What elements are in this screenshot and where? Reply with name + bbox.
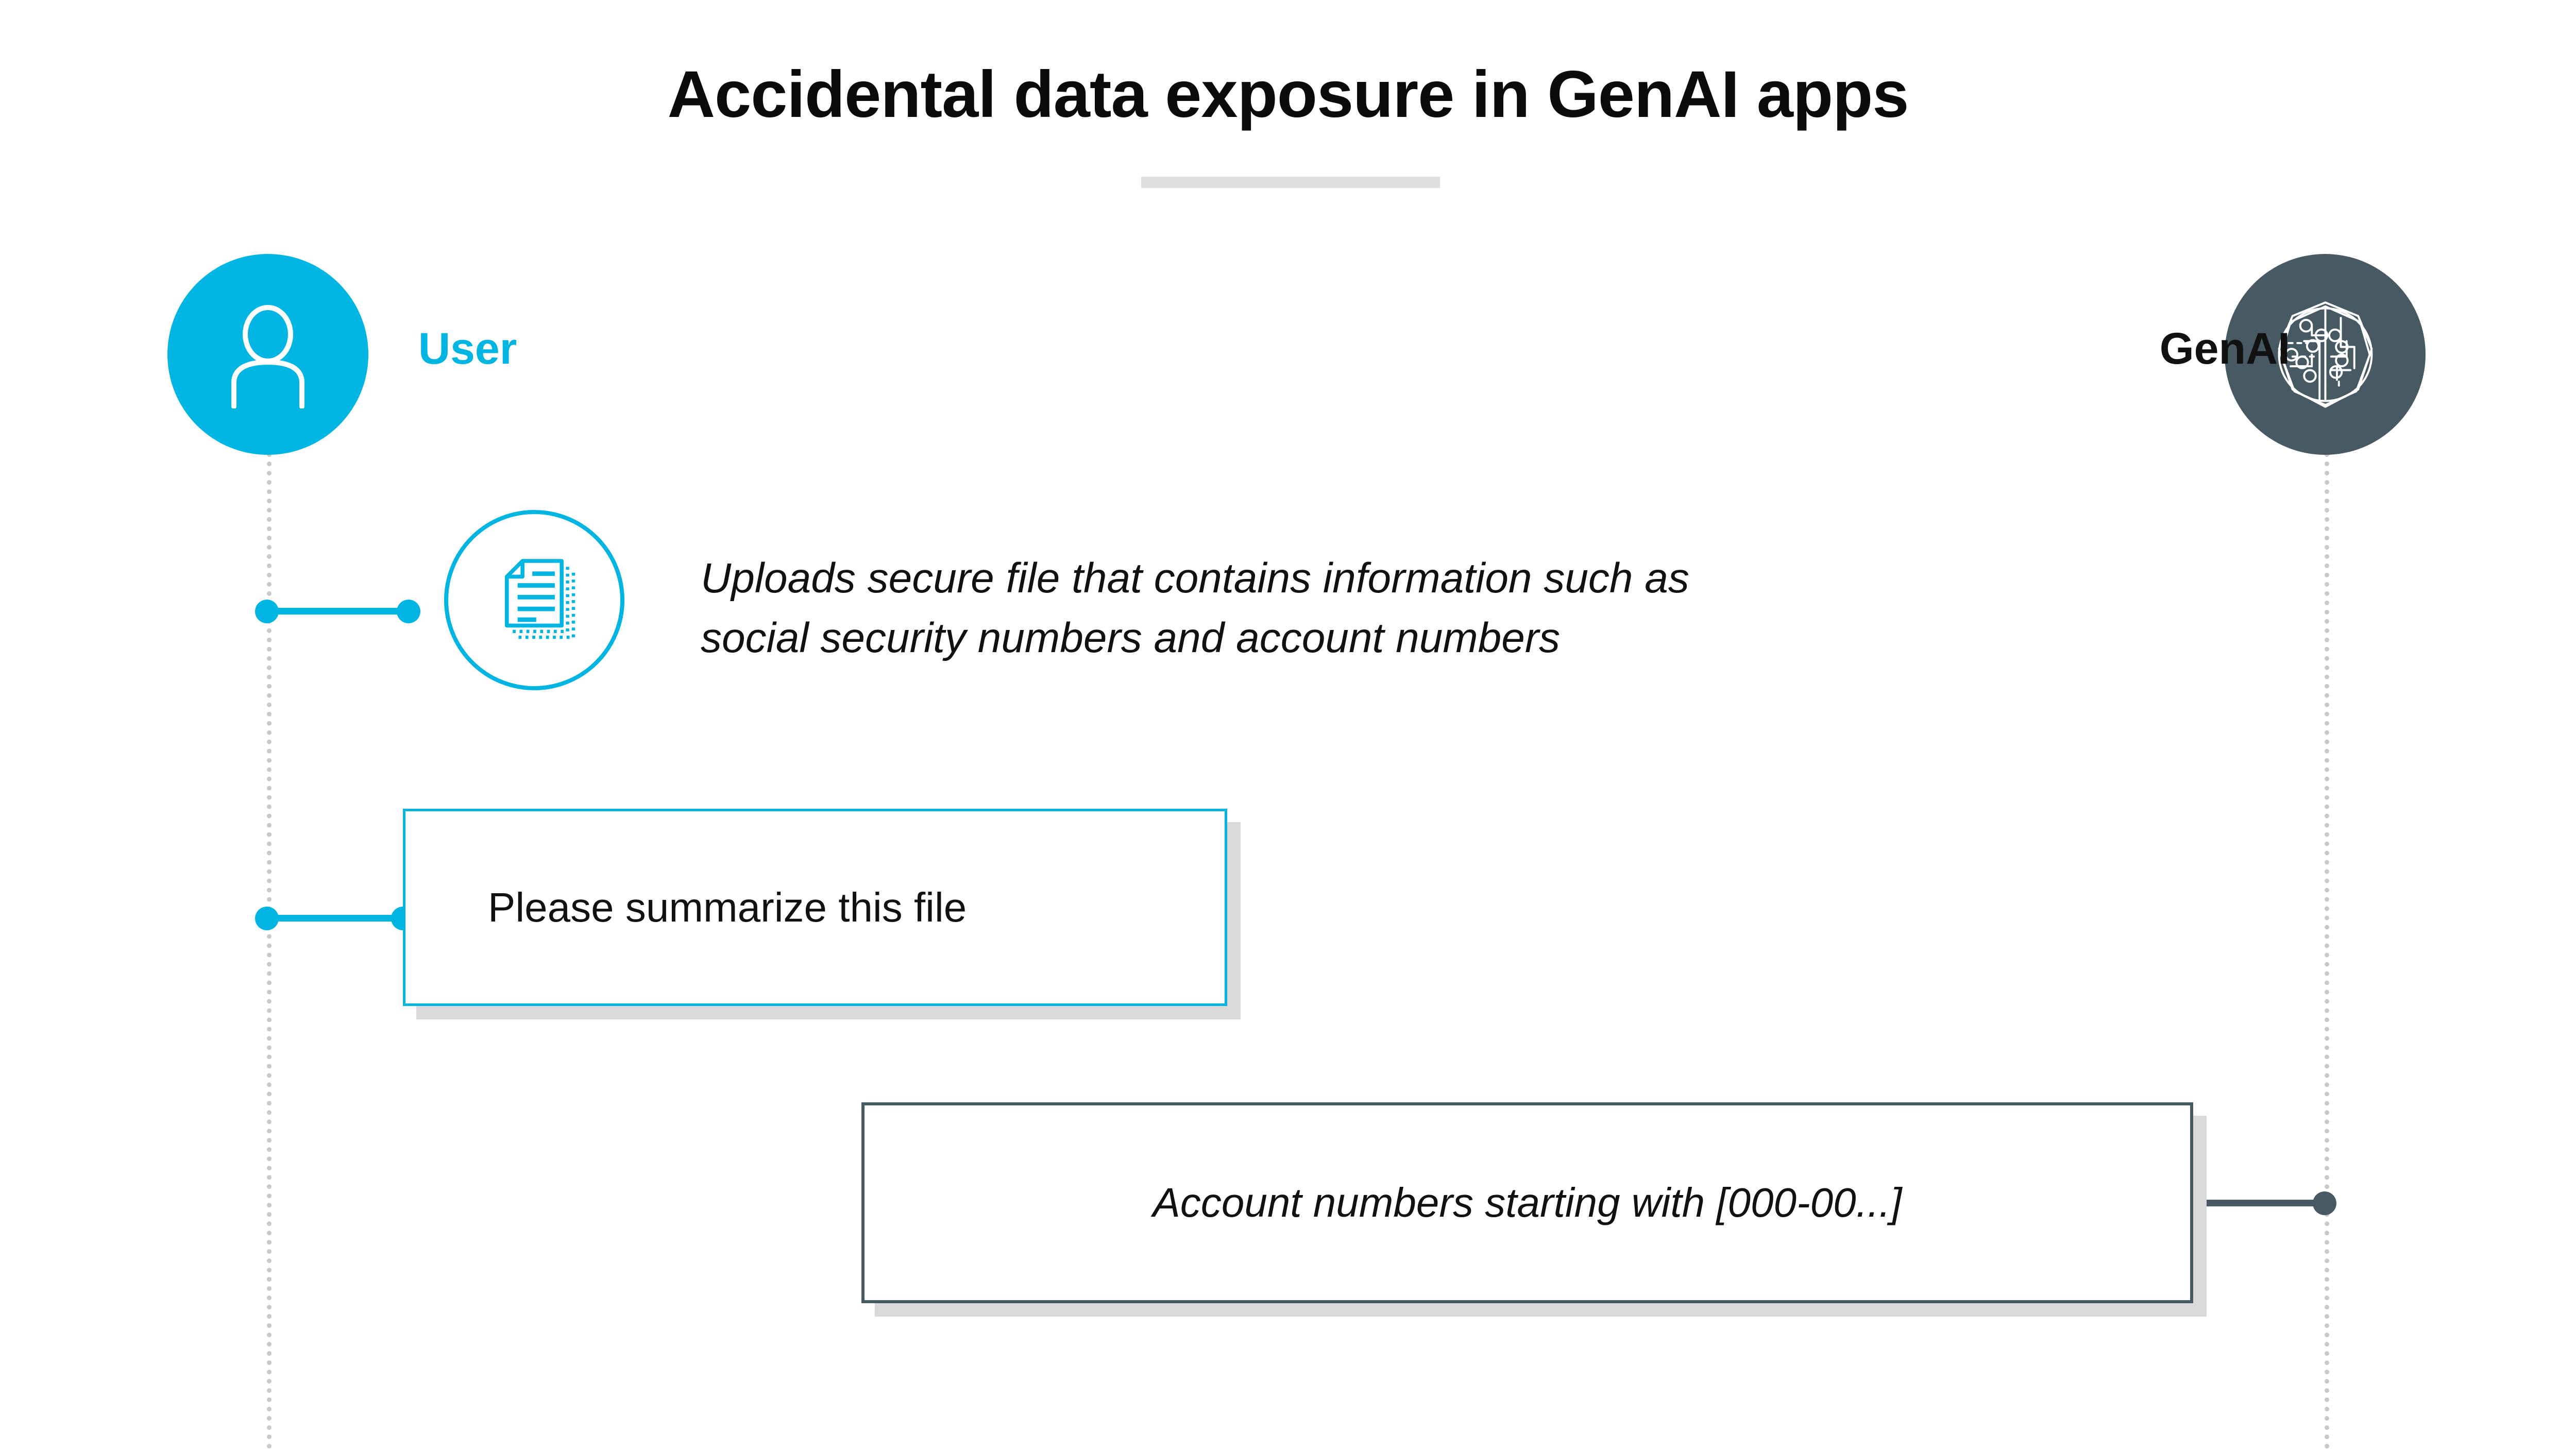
connector-line-response bbox=[2193, 1200, 2330, 1206]
document-icon-bubble bbox=[444, 510, 624, 690]
actor-label-user: User bbox=[418, 323, 517, 374]
upload-caption-line-1: Uploads secure file that contains inform… bbox=[701, 549, 2061, 608]
avatar-user bbox=[167, 254, 368, 455]
connector-dot-prompt-start bbox=[255, 907, 279, 930]
connector-dot-upload-start bbox=[255, 600, 279, 623]
actor-label-genai: GenAI bbox=[1986, 323, 2290, 374]
connector-dot-response-end bbox=[2313, 1191, 2336, 1215]
connector-dot-upload-end bbox=[397, 600, 420, 623]
lifeline-genai bbox=[2325, 443, 2329, 1449]
lifeline-user bbox=[267, 443, 272, 1449]
message-box-genai-response[interactable]: Account numbers starting with [000-00...… bbox=[861, 1102, 2193, 1303]
connector-line-prompt bbox=[267, 915, 409, 922]
upload-caption-line-2: social security numbers and account numb… bbox=[701, 608, 2061, 668]
diagram-canvas: Accidental data exposure in GenAI apps U… bbox=[0, 0, 2576, 1449]
page-title: Accidental data exposure in GenAI apps bbox=[0, 57, 2576, 132]
document-stack-icon bbox=[485, 551, 583, 649]
message-text-user-prompt: Please summarize this file bbox=[405, 884, 1225, 931]
upload-caption: Uploads secure file that contains inform… bbox=[701, 549, 2061, 669]
title-underline-rule bbox=[1141, 177, 1440, 188]
person-icon bbox=[216, 300, 319, 408]
message-text-genai-response: Account numbers starting with [000-00...… bbox=[865, 1179, 2190, 1226]
connector-line-upload bbox=[267, 608, 409, 615]
message-box-user-prompt[interactable]: Please summarize this file bbox=[403, 809, 1227, 1006]
